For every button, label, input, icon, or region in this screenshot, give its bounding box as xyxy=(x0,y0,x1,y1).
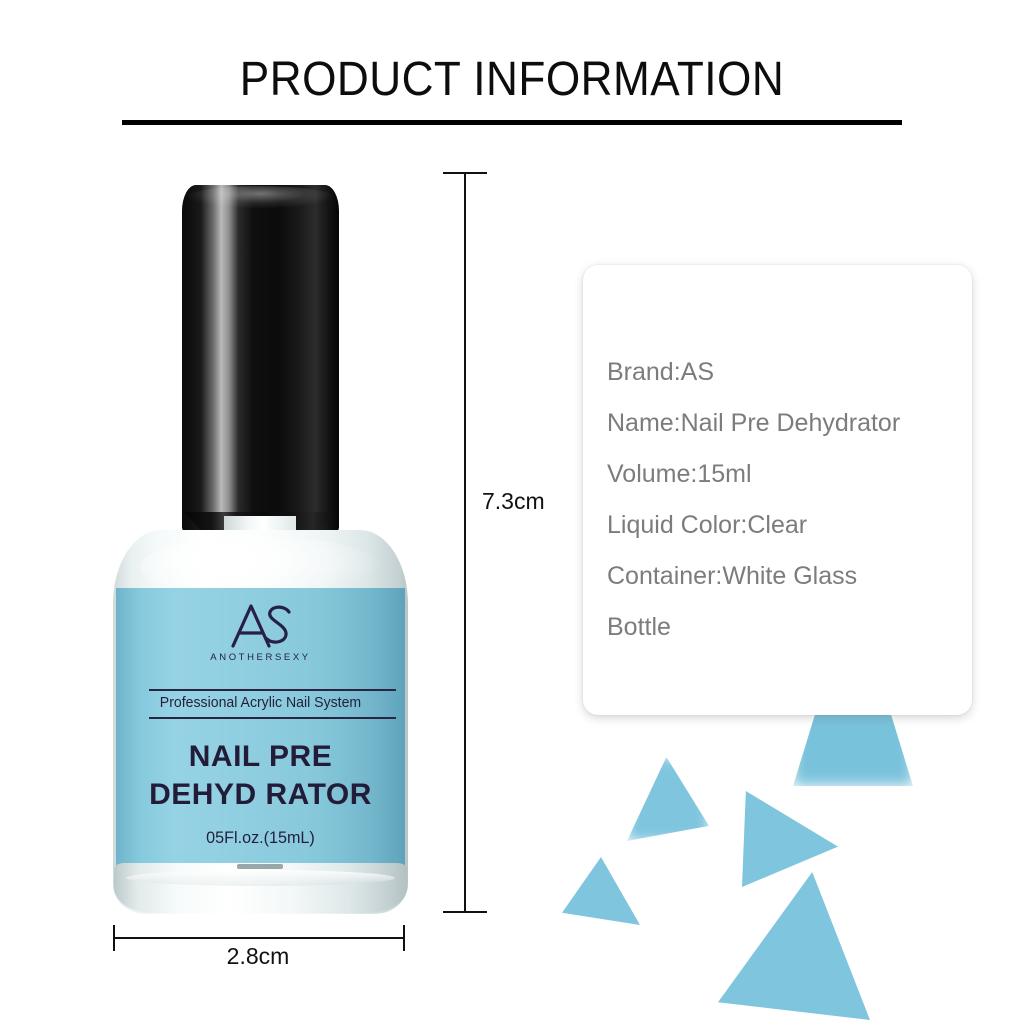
bottle-label: ANOTHERSEXY Professional Acrylic Nail Sy… xyxy=(116,588,405,866)
product-information-page: PRODUCT INFORMATION ANOTHERSEXY Professi… xyxy=(0,0,1024,1024)
label-product-name-line2: DEHYD RATOR xyxy=(116,778,405,812)
spec-line-liquid-color: Liquid Color:Clear xyxy=(607,500,964,551)
product-bottle-image: ANOTHERSEXY Professional Acrylic Nail Sy… xyxy=(100,180,420,920)
product-spec-list: Brand:AS Name:Nail Pre Dehydrator Volume… xyxy=(607,347,964,653)
bottle-base-notch xyxy=(237,864,283,869)
label-volume-text: 05Fl.oz.(15mL) xyxy=(123,828,398,848)
bottle-base-ring xyxy=(126,870,395,886)
height-tick-top xyxy=(443,172,487,174)
spec-line-brand: Brand:AS xyxy=(607,347,964,398)
spec-line-name: Name:Nail Pre Dehydrator xyxy=(607,398,964,449)
width-dimension-line xyxy=(113,937,404,939)
spec-line-container: Container:White Glass xyxy=(607,551,964,602)
as-logo-icon xyxy=(229,602,293,648)
label-logo-block: ANOTHERSEXY xyxy=(116,602,405,663)
page-title: PRODUCT INFORMATION xyxy=(41,52,983,107)
spec-line-container-cont: Bottle xyxy=(607,602,964,653)
spec-line-volume: Volume:15ml xyxy=(607,449,964,500)
label-rule-bottom xyxy=(149,717,396,719)
decorative-triangle-small-left xyxy=(562,857,640,925)
decorative-triangle-blurred-top xyxy=(793,708,913,786)
brand-wordmark: ANOTHERSEXY xyxy=(116,652,405,663)
height-dimension-label: 7.3cm xyxy=(482,488,545,515)
decorative-triangle-large xyxy=(718,872,870,1020)
height-tick-bottom xyxy=(443,911,487,913)
bottle-cap xyxy=(182,185,339,533)
cap-gloss-highlight xyxy=(188,186,333,208)
decorative-triangle-arrow xyxy=(742,791,838,887)
decorative-triangle-blurred-left xyxy=(627,757,709,841)
label-product-name-line1: NAIL PRE xyxy=(116,740,405,774)
label-tagline: Professional Acrylic Nail System xyxy=(125,694,397,711)
product-spec-card: Brand:AS Name:Nail Pre Dehydrator Volume… xyxy=(583,265,972,715)
width-dimension-label: 2.8cm xyxy=(0,943,516,970)
height-dimension-line xyxy=(464,172,466,912)
title-underline-rule xyxy=(122,120,902,125)
label-rule-top xyxy=(149,689,396,691)
